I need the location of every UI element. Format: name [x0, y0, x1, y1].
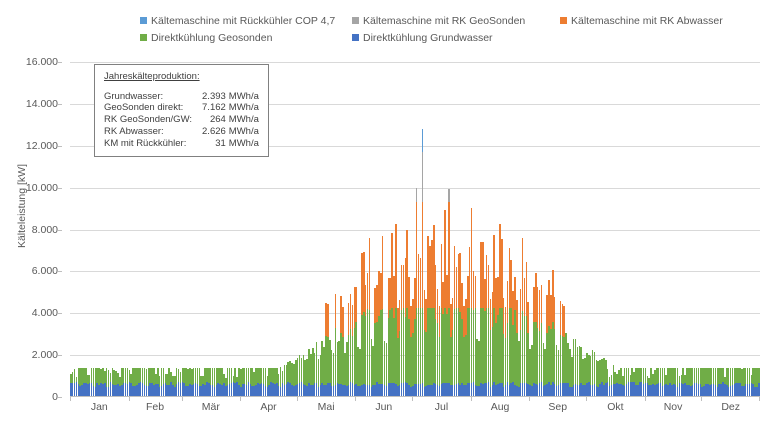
x-axis-tick-label: Jun — [364, 401, 404, 413]
info-row-label: RK Abwasser: — [104, 126, 202, 138]
bar-segment — [448, 189, 450, 202]
x-axis-labels: JanFebMärAprMaiJunJulAugSepOktNovDez — [70, 401, 760, 421]
x-axis-tick-label: Okt — [595, 401, 635, 413]
info-box-title: Jahreskälteproduktion: — [104, 71, 259, 83]
info-row-unit: MWh/a — [229, 138, 259, 150]
bar-segment — [554, 297, 556, 329]
y-axis-tick-label: 6.000 — [0, 265, 58, 277]
bar-segment — [327, 304, 329, 337]
y-axis-tick-mark — [58, 271, 62, 272]
x-axis-tick-mark — [701, 397, 702, 401]
bar-segment — [541, 285, 543, 322]
info-row-unit: MWh/a — [229, 91, 259, 103]
x-axis-tick-label: Jul — [421, 401, 461, 413]
y-axis-tick-mark — [58, 146, 62, 147]
info-row-label: KM mit Rückkühler: — [104, 138, 202, 150]
info-row-value: 2.393 — [202, 91, 229, 103]
legend-item-direktkuehlung-grundwasser[interactable]: Direktkühlung Grundwasser — [352, 29, 560, 46]
x-axis-tick-mark — [297, 397, 298, 401]
legend-item-kaeltemaschine-rueckkuehler[interactable]: Kältemaschine mit Rückkühler COP 4,7 — [140, 12, 352, 29]
info-row-label: Grundwasser: — [104, 91, 202, 103]
legend-item-direktkuehlung-geosonden[interactable]: Direktkühlung Geosonden — [140, 29, 352, 46]
legend-swatch-icon — [140, 34, 147, 41]
table-row: KM mit Rückkühler: 31 MWh/a — [104, 138, 259, 150]
y-axis-tick-label: 2.000 — [0, 349, 58, 361]
chart-legend: Kältemaschine mit Rückkühler COP 4,7 Käl… — [140, 12, 760, 48]
chart-container: Kältemaschine mit Rückkühler COP 4,7 Käl… — [0, 0, 768, 439]
table-row: RK Abwasser: 2.626 MWh/a — [104, 126, 259, 138]
info-row-value: 31 — [202, 138, 229, 150]
bar-segment — [416, 188, 418, 203]
x-axis-tick-mark — [70, 397, 71, 401]
x-axis-tick-mark — [471, 397, 472, 401]
bar-segment — [422, 129, 424, 152]
bar-segment — [758, 383, 760, 397]
x-axis-tick-mark — [759, 397, 760, 401]
legend-label: Kältemaschine mit Rückkühler COP 4,7 — [151, 15, 335, 27]
x-axis-tick-label: Apr — [248, 401, 288, 413]
y-axis-tick-mark — [58, 313, 62, 314]
info-row-unit: MWh/a — [229, 114, 259, 126]
bar-segment — [422, 152, 424, 202]
info-row-value: 2.626 — [202, 126, 229, 138]
x-axis-tick-label: Feb — [135, 401, 175, 413]
info-row-value: 264 — [202, 114, 229, 126]
bar-segment — [355, 287, 357, 322]
x-axis-tick-mark — [240, 397, 241, 401]
info-box-jahreskaelteproduktion: Jahreskälteproduktion: Grundwasser: 2.39… — [94, 64, 269, 157]
bar-segment — [475, 276, 477, 308]
y-axis-tick-label: 8.000 — [0, 224, 58, 236]
bar-segment — [527, 302, 529, 333]
y-axis-tick-mark — [58, 62, 62, 63]
x-axis-tick-label: Dez — [711, 401, 751, 413]
y-axis-tick-mark — [58, 397, 62, 398]
table-row: RK GeoSonden/GW: 264 MWh/a — [104, 114, 259, 126]
x-axis-tick-label: Mai — [306, 401, 346, 413]
info-row-value: 7.162 — [202, 102, 229, 114]
legend-label: Direktkühlung Grundwasser — [363, 32, 493, 44]
legend-label: Direktkühlung Geosonden — [151, 32, 272, 44]
y-axis-labels: 16.00014.00012.00010.0008.0006.0004.0002… — [0, 62, 62, 397]
y-axis-tick-mark — [58, 355, 62, 356]
bar-segment — [516, 300, 518, 333]
bar-segment — [342, 307, 344, 337]
y-axis-tick-label: 16.000 — [0, 56, 58, 68]
legend-swatch-icon — [560, 17, 567, 24]
legend-label: Kältemaschine mit RK GeoSonden — [363, 15, 525, 27]
legend-swatch-icon — [140, 17, 147, 24]
x-axis-tick-mark — [355, 397, 356, 401]
x-axis-tick-mark — [586, 397, 587, 401]
x-axis-tick-mark — [129, 397, 130, 401]
x-axis-tick-label: Jan — [79, 401, 119, 413]
bar-segment — [448, 202, 450, 308]
y-axis-tick-label: 10.000 — [0, 182, 58, 194]
y-axis-tick-label: 0 — [0, 391, 58, 403]
y-axis-tick-label: 12.000 — [0, 140, 58, 152]
legend-swatch-icon — [352, 34, 359, 41]
y-axis-tick-label: 4.000 — [0, 307, 58, 319]
x-axis-tick-mark — [412, 397, 413, 401]
bar-segment — [382, 236, 384, 309]
x-axis-tick-label: Nov — [653, 401, 693, 413]
info-row-unit: MWh/a — [229, 102, 259, 114]
info-row-unit: MWh/a — [229, 126, 259, 138]
bar-segment — [335, 294, 337, 328]
legend-item-kaeltemaschine-rk-abwasser[interactable]: Kältemaschine mit RK Abwasser — [560, 12, 760, 29]
info-row-label: GeoSonden direkt: — [104, 102, 202, 114]
x-axis-tick-mark — [529, 397, 530, 401]
y-axis-tick-mark — [58, 230, 62, 231]
bar-segment — [369, 238, 371, 310]
y-axis-tick-mark — [58, 188, 62, 189]
info-row-label: RK GeoSonden/GW: — [104, 114, 202, 126]
bar-segment — [395, 224, 397, 308]
x-axis-tick-label: Mär — [191, 401, 231, 413]
x-axis-tick-mark — [645, 397, 646, 401]
x-axis-line — [70, 396, 760, 397]
legend-label: Kältemaschine mit RK Abwasser — [571, 15, 723, 27]
table-row: Grundwasser: 2.393 MWh/a — [104, 91, 259, 103]
info-box-table: Grundwasser: 2.393 MWh/a GeoSonden direk… — [104, 91, 259, 150]
x-axis-tick-label: Sep — [538, 401, 578, 413]
x-axis-tick-mark — [182, 397, 183, 401]
bar-column — [758, 368, 760, 397]
x-axis-tick-label: Aug — [480, 401, 520, 413]
y-axis-tick-label: 14.000 — [0, 98, 58, 110]
legend-item-kaeltemaschine-rk-geosonden[interactable]: Kältemaschine mit RK GeoSonden — [352, 12, 560, 29]
table-row: GeoSonden direkt: 7.162 MWh/a — [104, 102, 259, 114]
bar-segment — [758, 368, 760, 383]
legend-swatch-icon — [352, 17, 359, 24]
y-axis-tick-mark — [58, 104, 62, 105]
